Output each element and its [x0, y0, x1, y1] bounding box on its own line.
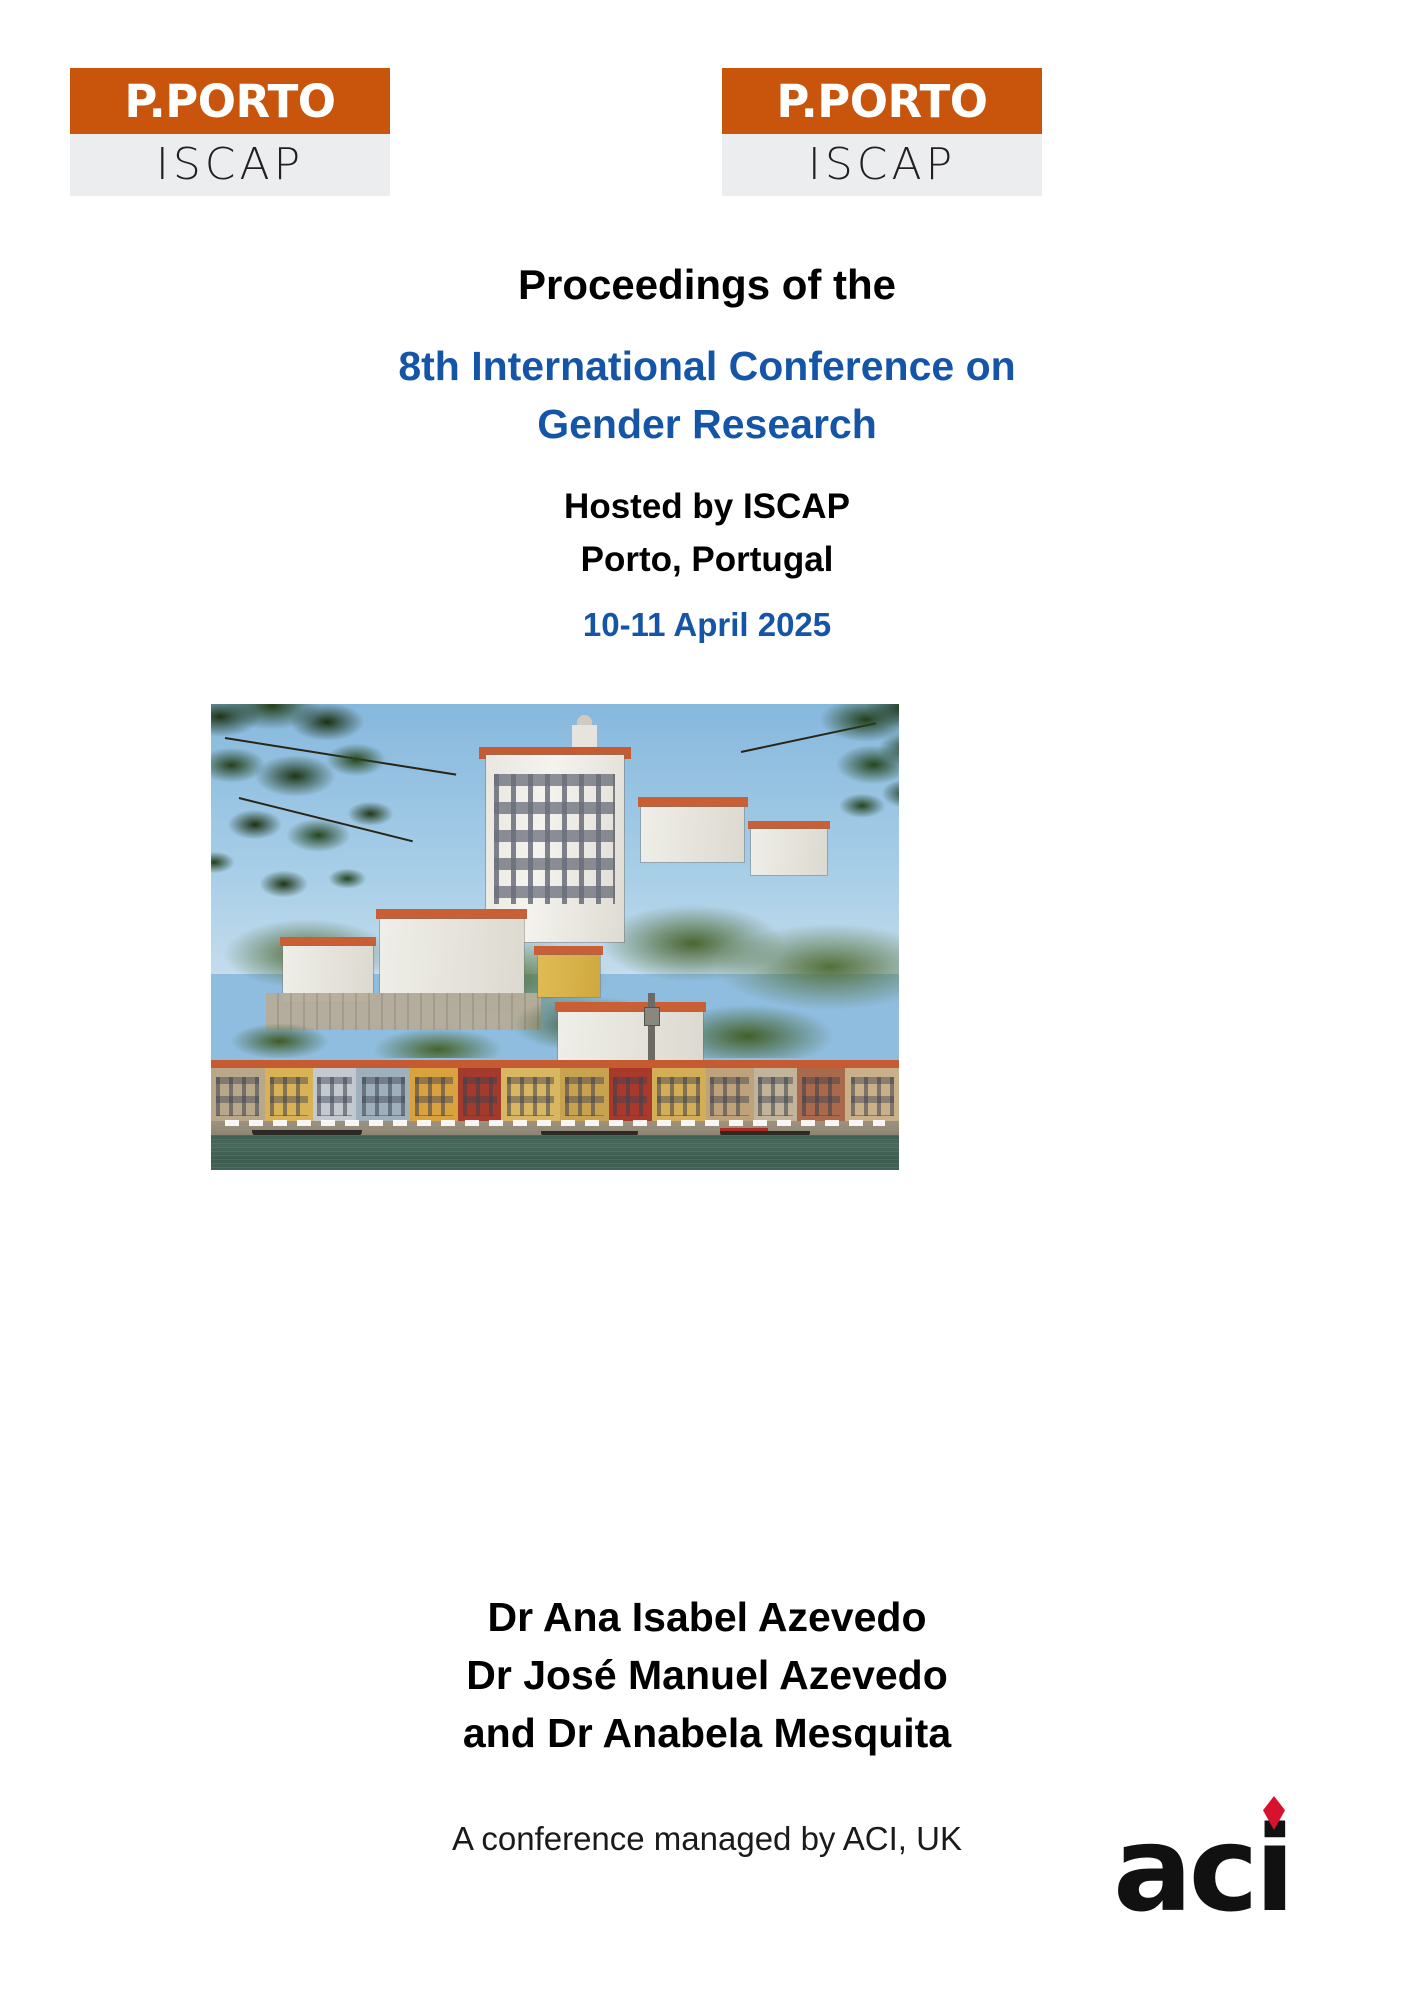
conference-title: 8th International Conference on Gender R…	[357, 337, 1057, 453]
aci-wordmark: aci	[1113, 1819, 1291, 1920]
iscap-wordmark-right: ISCAP	[808, 143, 956, 187]
editors-block: Dr Ana Isabel Azevedo Dr José Manuel Aze…	[0, 1588, 1414, 1763]
photo-facade	[265, 1060, 313, 1123]
porto-photo-canvas	[211, 704, 899, 1170]
aci-logo: aci	[1113, 1790, 1303, 1920]
photo-facade	[609, 1060, 652, 1123]
location-line: Porto, Portugal	[0, 534, 1414, 587]
hosted-by-line: Hosted by ISCAP	[0, 481, 1414, 534]
photo-foliage-left	[211, 704, 486, 965]
pporto-orange-bar-left: P.PORTO	[70, 68, 390, 134]
pporto-iscap-logo-right: P.PORTO ISCAP	[722, 68, 1042, 196]
photo-roof-m1	[555, 1002, 706, 1011]
photo-facade	[845, 1060, 899, 1123]
pporto-wordmark-left: P.PORTO	[124, 79, 335, 124]
conference-dates: 10-11 April 2025	[0, 600, 1414, 650]
title-block: Proceedings of the 8th International Con…	[0, 258, 1414, 650]
iscap-wordmark-left: ISCAP	[156, 143, 304, 187]
photo-funicular-car	[644, 1007, 660, 1027]
pporto-wordmark-right: P.PORTO	[776, 79, 987, 124]
proceedings-cover-page: P.PORTO ISCAP P.PORTO ISCAP Proceedings …	[0, 0, 1414, 2000]
photo-facade	[706, 1060, 754, 1123]
photo-facade	[754, 1060, 797, 1123]
photo-facade	[458, 1060, 501, 1123]
photo-yellow-house	[538, 955, 600, 997]
photo-facade	[560, 1060, 608, 1123]
photo-facade	[313, 1060, 356, 1123]
photo-roof-y1	[534, 946, 603, 954]
page-title-proceedings: Proceedings of the	[0, 258, 1414, 313]
pporto-iscap-logo-left: P.PORTO ISCAP	[70, 68, 390, 196]
photo-foliage-right	[727, 704, 899, 900]
photo-facade	[501, 1060, 560, 1123]
photo-cafe-awnings	[225, 1120, 885, 1127]
photo-palace-windows	[494, 774, 614, 904]
iscap-subbar-right: ISCAP	[722, 134, 1042, 196]
porto-cover-photo	[211, 704, 899, 1170]
photo-facade	[652, 1060, 706, 1123]
editor-name: Dr Ana Isabel Azevedo	[0, 1588, 1414, 1646]
iscap-subbar-left: ISCAP	[70, 134, 390, 196]
photo-facade	[211, 1060, 265, 1123]
photo-facade	[797, 1060, 845, 1123]
pporto-orange-bar-right: P.PORTO	[722, 68, 1042, 134]
photo-facade	[356, 1060, 410, 1123]
photo-douro-river	[211, 1135, 899, 1170]
photo-building-m1	[558, 1012, 702, 1068]
photo-ribeira-facade-row	[211, 1060, 899, 1123]
logo-row: P.PORTO ISCAP P.PORTO ISCAP	[0, 0, 1414, 250]
editor-name: and Dr Anabela Mesquita	[0, 1704, 1414, 1762]
editor-name: Dr José Manuel Azevedo	[0, 1646, 1414, 1704]
photo-facade	[410, 1060, 458, 1123]
